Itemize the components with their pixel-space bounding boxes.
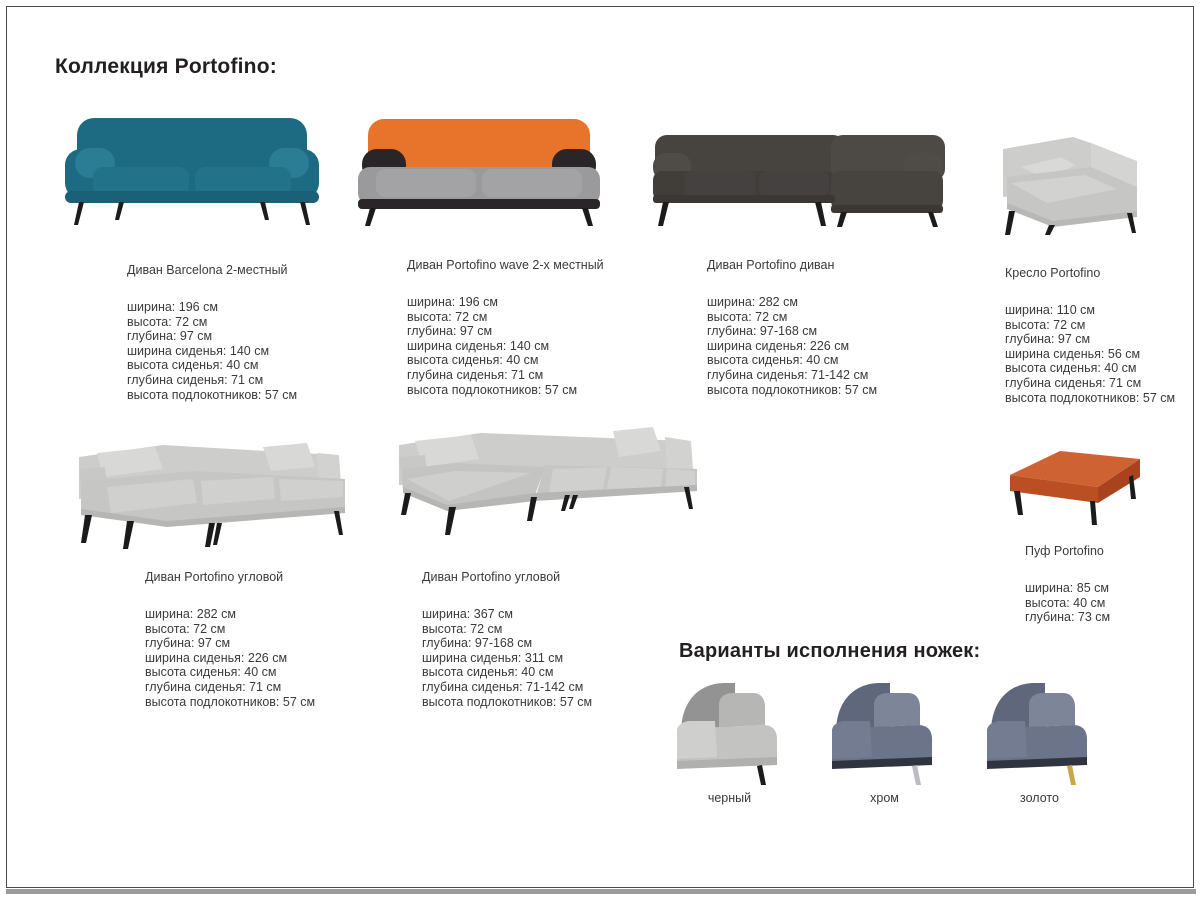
spec-item: высота: 72 см: [707, 310, 987, 325]
spec-item: высота подлокотников: 57 см: [127, 388, 397, 403]
product-card-divan-barcelona-2: Диван Barcelona 2-местный ширина: 196 см…: [127, 262, 397, 402]
spec-item: глубина сиденья: 71-142 см: [707, 368, 987, 383]
page-shadow: [6, 889, 1196, 894]
spec-item: глубина сиденья: 71 см: [1005, 376, 1194, 391]
sofa-leg-black-image: [667, 675, 792, 785]
product-card-divan-portofino-wave-2: Диван Portofino wave 2-х местный ширина:…: [407, 257, 687, 397]
sofa-leg-chrome-image: [822, 675, 947, 785]
spec-item: высота сиденья: 40 см: [127, 358, 397, 373]
teal-2-seat-sofa-image: [57, 115, 327, 227]
spec-item: высота сиденья: 40 см: [422, 665, 702, 680]
spec-item: высота сиденья: 40 см: [407, 353, 687, 368]
product-name: Диван Barcelona 2-местный: [127, 262, 397, 278]
product-specs: ширина: 85 см высота: 40 см глубина: 73 …: [1025, 581, 1194, 625]
spec-item: глубина сиденья: 71 см: [407, 368, 687, 383]
product-card-kreslo-portofino: Кресло Portofino ширина: 110 см высота: …: [1005, 265, 1194, 405]
product-specs: ширина: 196 см высота: 72 см глубина: 97…: [127, 300, 397, 402]
product-name: Диван Portofino диван: [707, 257, 987, 273]
spec-item: глубина: 97 см: [145, 636, 425, 651]
product-name: Диван Portofino угловой: [422, 569, 702, 585]
spec-item: ширина: 196 см: [127, 300, 397, 315]
product-name: Пуф Portofino: [1025, 543, 1194, 559]
product-specs: ширина: 110 см высота: 72 см глубина: 97…: [1005, 303, 1194, 405]
leg-variant-gold[interactable]: золото: [977, 675, 1102, 805]
spec-item: глубина: 97 см: [127, 329, 397, 344]
spec-item: высота сиденья: 40 см: [707, 353, 987, 368]
spec-item: высота: 72 см: [1005, 318, 1194, 333]
spec-item: высота подлокотников: 57 см: [407, 383, 687, 398]
product-card-divan-portofino-divan: Диван Portofino диван ширина: 282 см выс…: [707, 257, 987, 397]
spec-item: высота подлокотников: 57 см: [422, 695, 702, 710]
leg-variant-chrome[interactable]: хром: [822, 675, 947, 805]
spec-item: ширина сиденья: 140 см: [127, 344, 397, 359]
spec-item: ширина сиденья: 311 см: [422, 651, 702, 666]
spec-item: высота сиденья: 40 см: [1005, 361, 1194, 376]
spec-item: ширина: 85 см: [1025, 581, 1194, 596]
spec-item: глубина сиденья: 71 см: [127, 373, 397, 388]
orange-pouf-image: [1002, 439, 1152, 529]
light-grey-armchair-image: [987, 125, 1157, 235]
product-card-divan-portofino-uglovoy-282: Диван Portofino угловой ширина: 282 см в…: [145, 569, 425, 709]
product-specs: ширина: 282 см высота: 72 см глубина: 97…: [145, 607, 425, 709]
catalog-page: Коллекция Portofino: Диван Barcelona 2-м…: [6, 6, 1194, 888]
product-specs: ширина: 367 см высота: 72 см глубина: 97…: [422, 607, 702, 709]
spec-item: глубина: 97-168 см: [707, 324, 987, 339]
spec-item: высота: 72 см: [145, 622, 425, 637]
spec-item: ширина сиденья: 140 см: [407, 339, 687, 354]
dark-grey-corner-sofa-image: [645, 115, 955, 227]
spec-item: высота: 72 см: [407, 310, 687, 325]
product-name: Диван Portofino угловой: [145, 569, 425, 585]
spec-item: высота подлокотников: 57 см: [145, 695, 425, 710]
spec-item: высота подлокотников: 57 см: [1005, 391, 1194, 406]
sofa-leg-gold-image: [977, 675, 1102, 785]
spec-item: глубина: 97-168 см: [422, 636, 702, 651]
spec-item: ширина сиденья: 226 см: [707, 339, 987, 354]
spec-item: глубина сиденья: 71 см: [145, 680, 425, 695]
spec-item: глубина: 73 см: [1025, 610, 1194, 625]
leg-variant-label: хром: [822, 791, 947, 805]
product-card-puf-portofino: Пуф Portofino ширина: 85 см высота: 40 с…: [1025, 543, 1194, 625]
leg-variant-black[interactable]: черный: [667, 675, 792, 805]
product-name: Диван Portofino wave 2-х местный: [407, 257, 687, 273]
leg-variant-label: золото: [977, 791, 1102, 805]
product-specs: ширина: 282 см высота: 72 см глубина: 97…: [707, 295, 987, 397]
orange-grey-wave-sofa-image: [352, 115, 607, 227]
leg-variant-label: черный: [667, 791, 792, 805]
spec-item: глубина сиденья: 71-142 см: [422, 680, 702, 695]
spec-item: ширина: 282 см: [145, 607, 425, 622]
spec-item: ширина: 282 см: [707, 295, 987, 310]
spec-item: ширина: 367 см: [422, 607, 702, 622]
spec-item: высота: 72 см: [127, 315, 397, 330]
spec-item: глубина: 97 см: [407, 324, 687, 339]
light-grey-large-corner-sofa-image: [385, 415, 715, 550]
spec-item: ширина: 196 см: [407, 295, 687, 310]
product-name: Кресло Portofino: [1005, 265, 1194, 281]
product-specs: ширина: 196 см высота: 72 см глубина: 97…: [407, 295, 687, 397]
spec-item: ширина сиденья: 226 см: [145, 651, 425, 666]
light-grey-straight-sofa-image: [67, 425, 367, 550]
page-title: Коллекция Portofino:: [55, 55, 277, 79]
spec-item: высота подлокотников: 57 см: [707, 383, 987, 398]
spec-item: высота: 72 см: [422, 622, 702, 637]
product-card-divan-portofino-uglovoy-367: Диван Portofino угловой ширина: 367 см в…: [422, 569, 702, 709]
spec-item: высота сиденья: 40 см: [145, 665, 425, 680]
spec-item: глубина: 97 см: [1005, 332, 1194, 347]
legs-section-title: Варианты исполнения ножек:: [679, 640, 980, 663]
spec-item: высота: 40 см: [1025, 596, 1194, 611]
spec-item: ширина сиденья: 56 см: [1005, 347, 1194, 362]
spec-item: ширина: 110 см: [1005, 303, 1194, 318]
